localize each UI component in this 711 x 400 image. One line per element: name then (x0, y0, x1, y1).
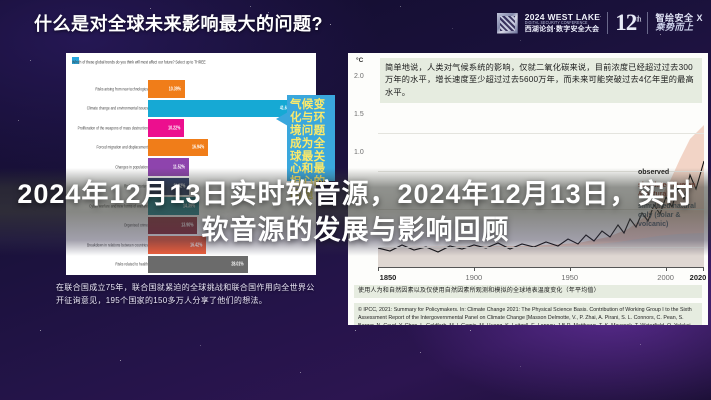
bar-category-label: Climate change and environmental issues (66, 105, 148, 111)
x-axis-line (378, 267, 704, 268)
conference-logo: 2024 WEST LAKE DIGITAL SECURITY CONFEREN… (497, 11, 703, 35)
gridline (378, 133, 704, 134)
x-axis-tick-label: 1850 (380, 273, 397, 282)
bar-track: 10.22% (148, 119, 184, 137)
x-axis-tick-mark (570, 267, 571, 271)
slide-header: 什么是对全球未来影响最大的问题? 2024 WEST LAKE DIGITAL … (0, 0, 711, 46)
bar-track: 10.39% (148, 80, 185, 98)
bar-track: 16.94% (148, 139, 208, 157)
y-axis-tick-label: 1.0 (354, 149, 364, 156)
star-decoration (120, 360, 121, 361)
logo-edition-number: 12th (615, 10, 640, 36)
y-axis-unit-label: °C (356, 57, 363, 64)
right-chart-source-citation: © IPCC, 2021: Summary for Policymakers. … (354, 303, 702, 325)
bar-category-label: Risks related to health (66, 261, 148, 267)
x-axis-tick-mark (703, 267, 704, 271)
star-decoration (420, 352, 421, 353)
bar-fill: 10.39% (148, 80, 185, 98)
y-axis-tick-label: 2.0 (354, 73, 364, 80)
bar-fill: 28.01% (148, 256, 248, 274)
edition-suffix: th (636, 14, 640, 23)
star-decoration (300, 372, 301, 373)
bar-value-label: 28.01% (231, 261, 243, 267)
logo-divider (607, 12, 608, 34)
x-axis-tick-mark (474, 267, 475, 271)
star-decoration (520, 366, 521, 367)
bar-row: Risks related to health28.01% (66, 255, 316, 275)
bar-fill: 16.94% (148, 139, 208, 157)
bar-fill: 10.22% (148, 119, 184, 137)
x-axis-tick-label: 2020 (690, 273, 707, 282)
bar-row: Risks arising from new technologies10.39… (66, 79, 316, 99)
star-decoration (18, 120, 19, 121)
right-panel-note: 简单地说，人类对气候系统的影响，仅就二氧化碳来说，目前浓度已经超过过去300万年… (380, 58, 702, 103)
left-chart-title: Which of these global trends do you thin… (72, 59, 310, 65)
bar-row: Forced migration and displacement16.94% (66, 138, 316, 158)
x-axis-tick-label: 1950 (561, 273, 578, 282)
logo-divider-2 (647, 12, 648, 34)
x-axis-tick-label: 2000 (657, 273, 674, 282)
bottom-left-caption: 在联合国成立75年，联合国就紧迫的全球挑战和联合国作用向全世界公开征询意见，19… (56, 282, 318, 308)
right-chart-caption: 使用人为和自然因素以及仅使用自然因素所观测和模拟的全球地表温度变化（年平均值） (354, 285, 702, 298)
x-axis-tick-mark (666, 267, 667, 271)
bar-value-label: 16.94% (192, 144, 204, 150)
bar-value-label: 10.22% (168, 125, 180, 131)
bar-category-label: Risks arising from new technologies (66, 86, 148, 92)
y-axis-tick-label: 1.5 (354, 111, 364, 118)
logo-slogan-line2: 乘势而上 (655, 23, 693, 32)
bar-category-label: Proliferation of the weapons of mass des… (66, 125, 148, 131)
bar-value-label: 10.39% (169, 86, 181, 92)
star-decoration (470, 330, 471, 331)
x-axis-tick-label: 1900 (466, 273, 483, 282)
bar-fill: 41.63% (148, 100, 296, 118)
overlay-article-title: 2024年12月13日实时软音源，2024年12月13日，实时软音源的发展与影响… (0, 176, 711, 249)
slide-root: 什么是对全球未来影响最大的问题? 2024 WEST LAKE DIGITAL … (0, 0, 711, 400)
page-title: 什么是对全球未来影响最大的问题? (34, 10, 323, 36)
star-decoration (200, 345, 201, 346)
west-lake-emblem-icon (497, 13, 518, 34)
logo-english-subtitle: DIGITAL SECURITY CONFERENCE (525, 21, 601, 26)
logo-slogan: 智绘安全 X 乘势而上 (655, 14, 703, 32)
x-axis-tick-mark (378, 267, 379, 271)
edition-value: 12 (615, 10, 636, 35)
star-decoration (30, 60, 31, 61)
bar-track: 41.63% (148, 100, 296, 118)
logo-text-block: 2024 WEST LAKE DIGITAL SECURITY CONFEREN… (525, 13, 601, 33)
star-decoration (640, 344, 641, 345)
logo-chinese-name: 西湖论剑·数字安全大会 (525, 26, 601, 33)
x-axis: 18501900195020002020 (378, 267, 704, 285)
bar-track: 28.01% (148, 256, 248, 274)
bar-category-label: Forced migration and displacement (66, 144, 148, 150)
star-decoration (355, 330, 356, 331)
star-decoration (40, 330, 41, 331)
